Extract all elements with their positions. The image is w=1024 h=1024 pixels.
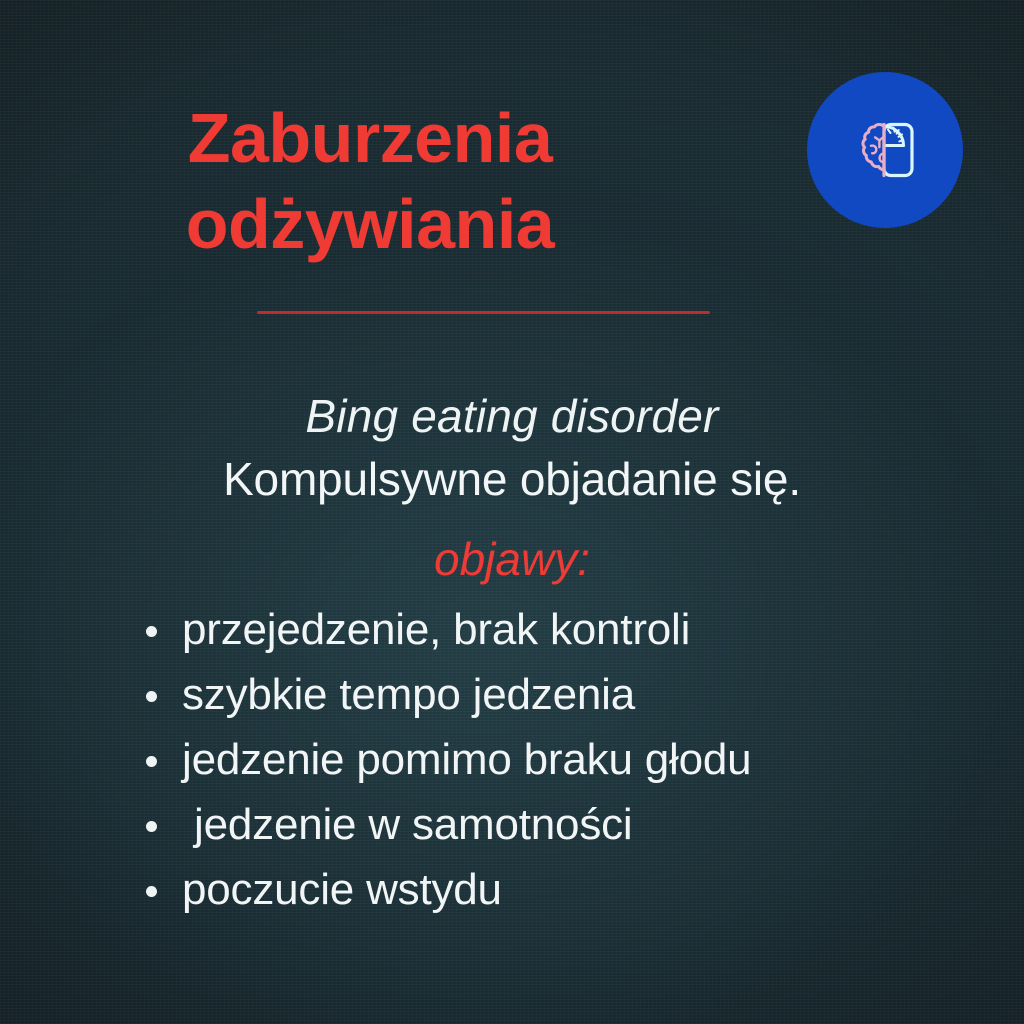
list-item: przejedzenie, brak kontroli: [146, 602, 976, 667]
bullet-dot-icon: [146, 691, 157, 702]
poster-canvas: Zaburzenia odżywiania Bing eating disord…: [0, 0, 1024, 1024]
list-item-label: przejedzenie, brak kontroli: [182, 602, 690, 658]
list-item-label: poczucie wstydu: [182, 862, 502, 918]
title-line-1: Zaburzenia: [0, 95, 740, 181]
symptom-list: przejedzenie, brak kontroli szybkie temp…: [146, 602, 976, 927]
brain-scale-badge: [807, 72, 963, 228]
list-item: szybkie tempo jedzenia: [146, 667, 976, 732]
symptoms-heading: objawy:: [0, 529, 1024, 589]
list-item: jedzenie w samotności: [146, 797, 976, 862]
bullet-dot-icon: [146, 886, 157, 897]
title-divider: [257, 311, 710, 314]
list-item: poczucie wstydu: [146, 862, 976, 927]
subtitle-polish: Kompulsywne objadanie się.: [0, 447, 1024, 511]
brain-scale-icon: [854, 120, 916, 180]
list-item-label: jedzenie pomimo braku głodu: [182, 732, 751, 788]
list-item-label: szybkie tempo jedzenia: [182, 667, 635, 723]
bullet-dot-icon: [146, 626, 157, 637]
bullet-dot-icon: [146, 756, 157, 767]
title-line-2: odżywiania: [0, 181, 740, 267]
list-item: jedzenie pomimo braku głodu: [146, 732, 976, 797]
subtitle-block: Bing eating disorder Kompulsywne objadan…: [0, 385, 1024, 511]
subtitle-english: Bing eating disorder: [0, 385, 1024, 447]
page-title: Zaburzenia odżywiania: [0, 95, 740, 267]
bullet-dot-icon: [146, 821, 157, 832]
list-item-label: jedzenie w samotności: [182, 797, 633, 853]
